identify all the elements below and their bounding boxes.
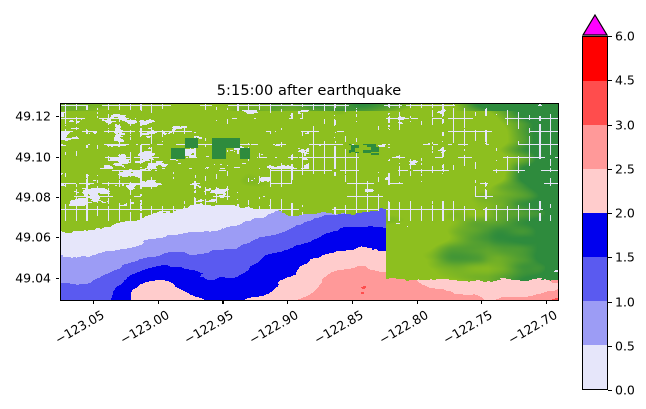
x-tick-mark — [546, 300, 547, 304]
y-tick-label: 49.06 — [0, 230, 51, 245]
x-tick-label: −122.80 — [376, 307, 430, 347]
x-tick-mark — [481, 300, 482, 304]
colorbar-band — [583, 301, 607, 345]
colorbar-tick-label: 1.5 — [615, 250, 635, 265]
colorbar[interactable]: 0.00.51.01.52.02.53.04.56.0 — [582, 14, 646, 396]
colorbar-extend-arrow-icon — [582, 14, 608, 36]
colorbar-band — [583, 213, 607, 257]
colorbar-tick-mark — [608, 36, 612, 37]
colorbar-tick-mark — [608, 346, 612, 347]
inundation-raster — [61, 104, 558, 300]
x-tick-mark — [158, 300, 159, 304]
colorbar-tick-label: 6.0 — [615, 29, 635, 44]
colorbar-band — [583, 345, 607, 389]
colorbar-tick-label: 1.0 — [615, 294, 635, 309]
y-tick-mark — [56, 278, 60, 279]
colorbar-tick-label: 4.5 — [615, 73, 635, 88]
x-tick-mark — [93, 300, 94, 304]
colorbar-tick-mark — [608, 390, 612, 391]
colorbar-band — [583, 169, 607, 213]
colorbar-tick-mark — [608, 125, 612, 126]
x-tick-mark — [417, 300, 418, 304]
x-tick-label: −122.90 — [246, 307, 300, 347]
x-tick-label: −123.05 — [52, 307, 106, 347]
map-axes[interactable] — [60, 103, 559, 301]
y-tick-mark — [56, 116, 60, 117]
y-tick-label: 49.10 — [0, 149, 51, 164]
figure-canvas: 5:15:00 after earthquake −123.05−123.00−… — [0, 0, 646, 409]
x-tick-label: −123.00 — [117, 307, 171, 347]
colorbar-tick-mark — [608, 257, 612, 258]
colorbar-tick-label: 3.0 — [615, 117, 635, 132]
x-tick-label: −122.85 — [311, 307, 365, 347]
y-tick-mark — [56, 197, 60, 198]
colorbar-tick-mark — [608, 169, 612, 170]
colorbar-band — [583, 125, 607, 169]
x-tick-label: −122.70 — [505, 307, 559, 347]
y-tick-label: 49.08 — [0, 189, 51, 204]
colorbar-tick-label: 2.0 — [615, 206, 635, 221]
y-tick-mark — [56, 157, 60, 158]
colorbar-band — [583, 37, 607, 81]
colorbar-tick-label: 0.0 — [615, 383, 635, 398]
x-tick-mark — [287, 300, 288, 304]
colorbar-tick-label: 0.5 — [615, 338, 635, 353]
page-title: 5:15:00 after earthquake — [60, 83, 558, 99]
y-tick-label: 49.04 — [0, 270, 51, 285]
colorbar-gradient — [582, 36, 608, 390]
colorbar-band — [583, 257, 607, 301]
colorbar-tick-mark — [608, 302, 612, 303]
x-tick-mark — [222, 300, 223, 304]
y-tick-label: 49.12 — [0, 109, 51, 124]
x-tick-mark — [352, 300, 353, 304]
colorbar-tick-mark — [608, 213, 612, 214]
colorbar-tick-mark — [608, 80, 612, 81]
colorbar-band — [583, 81, 607, 125]
x-tick-label: −122.95 — [182, 307, 236, 347]
x-tick-label: −122.75 — [441, 307, 495, 347]
y-tick-mark — [56, 237, 60, 238]
colorbar-tick-label: 2.5 — [615, 161, 635, 176]
